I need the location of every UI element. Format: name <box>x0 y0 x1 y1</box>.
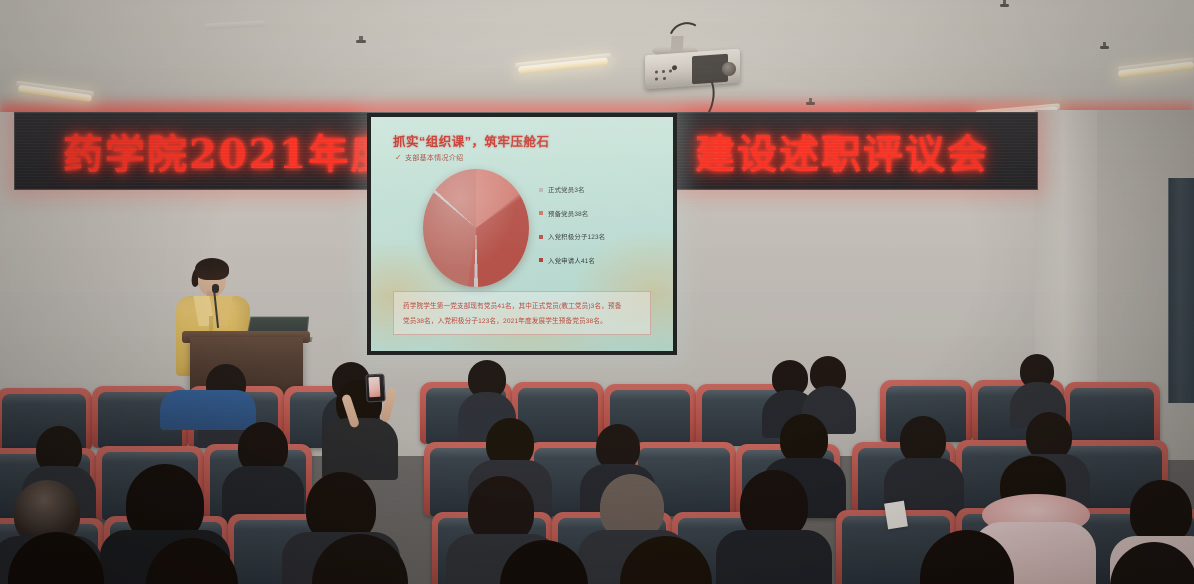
legend-swatch <box>539 188 543 192</box>
legend-swatch <box>539 235 543 239</box>
fire-sprinkler-head <box>806 98 815 106</box>
slide-subtitle: ✓支部基本情况介绍 <box>395 153 463 163</box>
audience-area <box>0 352 1194 584</box>
legend-label: 入党申请人41名 <box>548 256 595 265</box>
legend-item: 正式党员3名 <box>539 185 663 194</box>
checkmark-icon: ✓ <box>395 153 402 162</box>
slide-caption-box: 药学院学生第一党支部现有党员41名，其中正式党员(教工党员)3名，预备 党员38… <box>393 291 651 335</box>
legend-item: 入党积极分子123名 <box>539 232 663 241</box>
slide-caption-line-2: 党员38名，入党积极分子123名，2021年度发展学生预备党员38名。 <box>403 314 641 329</box>
slide-title: 抓实“组织课”，筑牢压舱石 <box>393 131 550 150</box>
audience-torso <box>716 530 832 584</box>
audience-head <box>780 414 828 464</box>
pie-chart-highlight <box>423 169 529 287</box>
audience-head <box>1130 480 1192 544</box>
conference-photo-scene: 药学院2021年度 建设述职评议会 抓实“组织课”，筑牢压舱石 ✓支部基本情况介… <box>0 0 1194 584</box>
legend-label: 入党积极分子123名 <box>548 232 605 241</box>
fire-sprinkler-head <box>357 36 366 44</box>
fire-sprinkler-head <box>1000 0 1009 8</box>
audience-head <box>900 416 946 464</box>
legend-label: 正式党员3名 <box>548 185 585 194</box>
audience-torso-blue-jacket <box>160 390 256 430</box>
audience-head <box>1026 412 1072 460</box>
legend-item: 预备党员38名 <box>539 209 663 218</box>
legend-swatch <box>539 211 543 215</box>
legend-item: 入党申请人41名 <box>539 256 663 265</box>
audience-torso <box>322 418 398 480</box>
legend-label: 预备党员38名 <box>548 209 588 218</box>
led-banner-text-left: 药学院2021年度 <box>63 122 392 180</box>
slide-caption-line-1: 药学院学生第一党支部现有党员41名，其中正式党员(教工党员)3名，预备 <box>403 299 641 314</box>
projection-screen: 抓实“组织课”，筑牢压舱石 ✓支部基本情况介绍 正式党员3名 预备党员38名 入… <box>371 117 673 351</box>
microphone-head <box>212 284 219 293</box>
fire-sprinkler-head <box>1100 42 1109 50</box>
chart-legend: 正式党员3名 预备党员38名 入党积极分子123名 入党申请人41名 <box>539 185 663 279</box>
projector-lens <box>722 62 736 76</box>
pie-chart <box>423 169 529 287</box>
chair[interactable] <box>1064 382 1160 444</box>
slide-subtitle-label: 支部基本情况介绍 <box>405 155 463 162</box>
smartphone-screen <box>368 377 380 398</box>
presenter-hair <box>195 258 229 280</box>
smartphone[interactable] <box>365 374 385 403</box>
legend-swatch <box>539 258 543 262</box>
handout-paper[interactable] <box>884 501 908 530</box>
